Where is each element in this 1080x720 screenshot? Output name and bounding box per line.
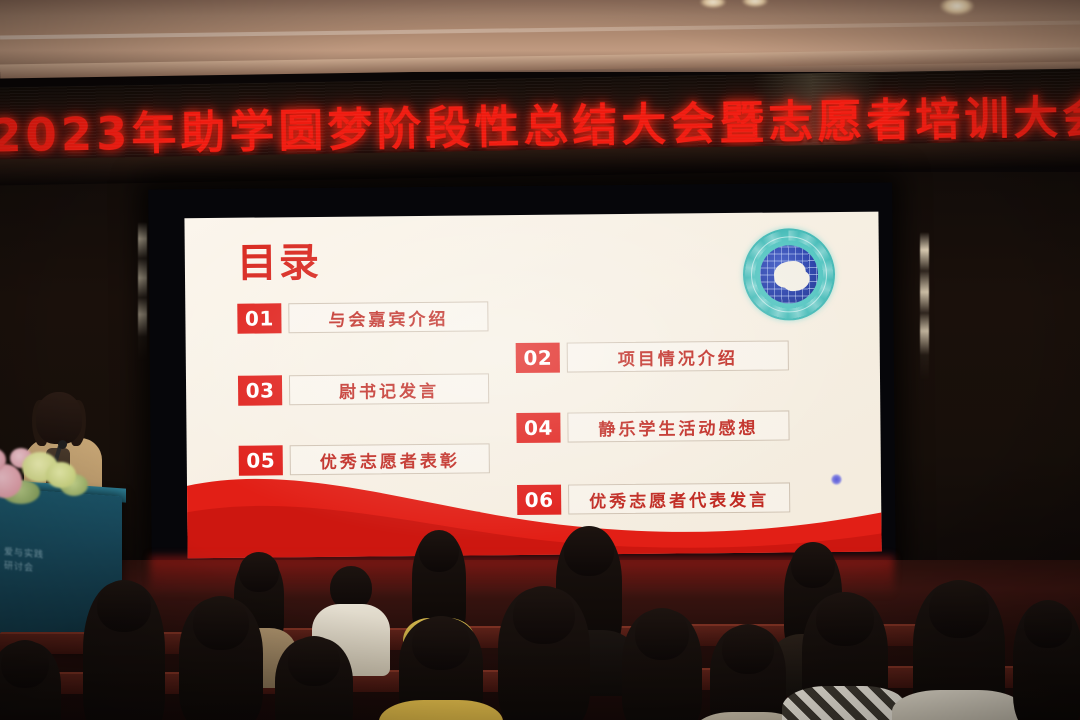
audience-person	[900, 580, 1018, 720]
presentation-slide: 目录 01 与会嘉宾介绍 02 项目情况介绍	[184, 212, 881, 559]
wall-light-strip	[920, 232, 929, 382]
audience	[0, 520, 1080, 720]
audience-person	[74, 580, 174, 720]
audience-person	[486, 586, 602, 720]
person-head	[929, 580, 989, 638]
agenda-item-02: 02 项目情况介绍	[516, 340, 789, 373]
person-head	[1, 640, 49, 688]
flower-arrangement	[0, 440, 103, 512]
person-head	[288, 636, 340, 686]
downlight-icon	[700, 0, 726, 8]
person-head	[635, 608, 689, 660]
person-head	[419, 530, 459, 572]
downlight-icon	[940, 0, 974, 15]
agenda-number: 04	[516, 413, 560, 443]
audience-person	[790, 592, 900, 720]
agenda-item-01: 01 与会嘉宾介绍	[237, 301, 488, 333]
audience-person	[0, 640, 70, 720]
emblem-landmass	[773, 260, 808, 289]
agenda-number: 03	[238, 375, 282, 405]
downlight-icon	[742, 0, 768, 7]
person-head	[513, 586, 575, 644]
person-head	[239, 552, 279, 592]
agenda-item-03: 03 尉书记发言	[238, 373, 489, 405]
audience-person	[386, 616, 496, 720]
projection-screen: 目录 01 与会嘉宾介绍 02 项目情况介绍	[148, 182, 896, 575]
ceiling	[0, 0, 1080, 72]
emblem-globe	[760, 245, 819, 304]
agenda-box: 静乐学生活动感想	[567, 410, 789, 442]
person-head	[791, 542, 835, 588]
ceiling-seam	[0, 20, 1080, 39]
agenda-number: 01	[237, 303, 281, 333]
person-head	[816, 592, 874, 646]
person-body	[892, 690, 1026, 720]
agenda-label: 静乐学生活动感想	[598, 413, 758, 440]
agenda-box: 尉书记发言	[289, 373, 489, 405]
globe-emblem-icon	[743, 228, 836, 321]
audience-person	[612, 608, 712, 720]
person-head	[564, 526, 614, 576]
person-head	[1024, 600, 1072, 648]
speaker-hair-top	[36, 392, 82, 444]
person-head	[193, 596, 249, 650]
audience-person	[268, 636, 360, 720]
audience-person	[1008, 600, 1080, 720]
agenda-label: 项目情况介绍	[618, 343, 738, 369]
agenda-box: 与会嘉宾介绍	[288, 301, 488, 333]
person-body	[379, 700, 503, 720]
slide-title: 目录	[237, 243, 321, 284]
conference-hall-photo: 2023年助学圆梦阶段性总结大会暨志愿者培训大会 目录 01 与会嘉宾介绍	[0, 0, 1080, 720]
person-head	[97, 580, 151, 632]
person-body-checkered	[782, 686, 908, 720]
wall-light-strip	[138, 222, 147, 362]
flower-yellow	[46, 462, 76, 488]
agenda-label: 尉书记发言	[339, 376, 439, 402]
person-head	[722, 624, 774, 674]
agenda-number: 02	[516, 343, 560, 373]
agenda-label: 与会嘉宾介绍	[328, 304, 448, 330]
person-head	[412, 616, 470, 670]
audience-person	[172, 596, 270, 720]
agenda-box: 项目情况介绍	[567, 340, 789, 372]
